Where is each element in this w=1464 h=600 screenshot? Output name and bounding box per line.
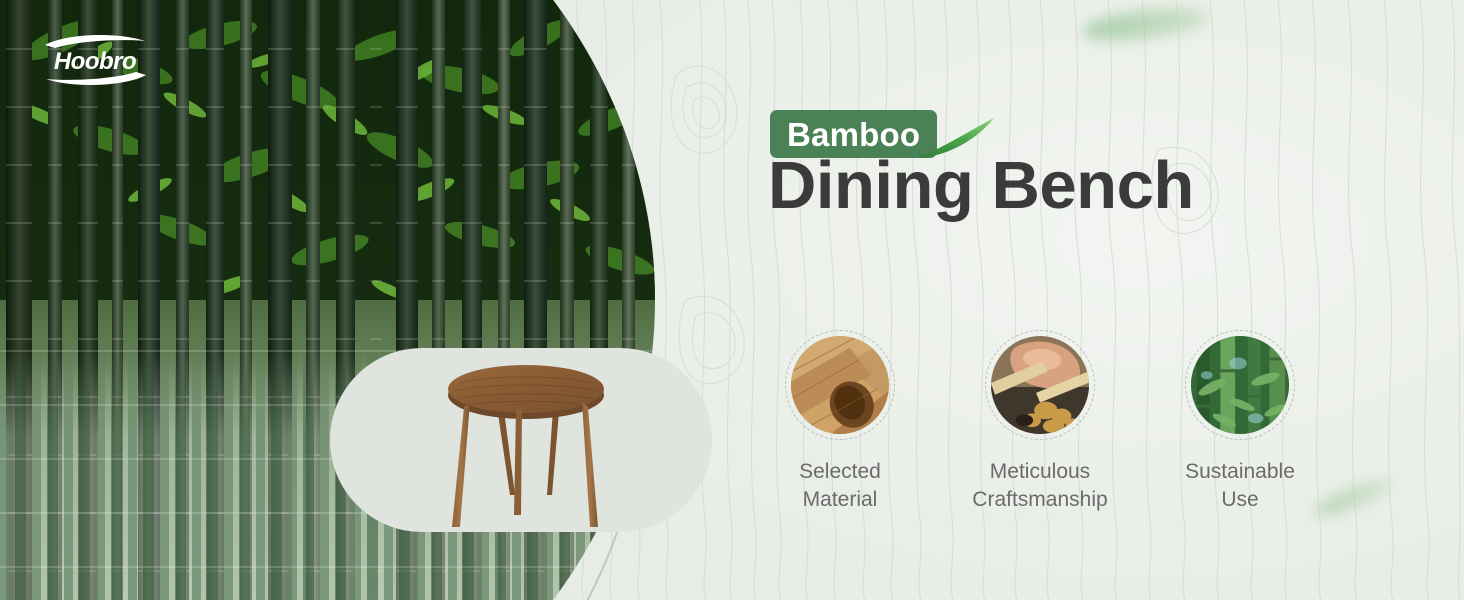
table-top [448,365,604,413]
feature-circle-frame [785,330,895,440]
product-image [430,355,620,535]
table-leg-center [514,407,522,515]
feature-label: Meticulous Craftsmanship [960,458,1120,513]
feature-item-selected-material[interactable]: Selected Material [760,330,920,513]
table-leg-front-left [452,402,470,527]
product-banner: Hoobro [0,0,1464,600]
content-column: Bamboo Dining Bench [770,0,1464,600]
feature-item-sustainable-use[interactable]: Sustainable Use [1160,330,1320,513]
feature-item-meticulous-craftsmanship[interactable]: Meticulous Craftsmanship [960,330,1120,513]
logo-wordmark: Hoobro [54,48,136,75]
hand-crafting-bamboo-photo-icon [991,336,1089,434]
bamboo-poles-photo-icon [791,336,889,434]
green-bamboo-grove-photo-icon [1191,336,1289,434]
logo-swoosh-top [45,35,145,48]
feature-circle-frame [985,330,1095,440]
brand-logo[interactable]: Hoobro [33,34,158,86]
feature-label: Sustainable Use [1160,458,1320,513]
table-leg-front-right [582,402,598,527]
feature-circle-frame [1185,330,1295,440]
feature-label: Selected Material [760,458,920,513]
page-title: Dining Bench [768,152,1194,219]
